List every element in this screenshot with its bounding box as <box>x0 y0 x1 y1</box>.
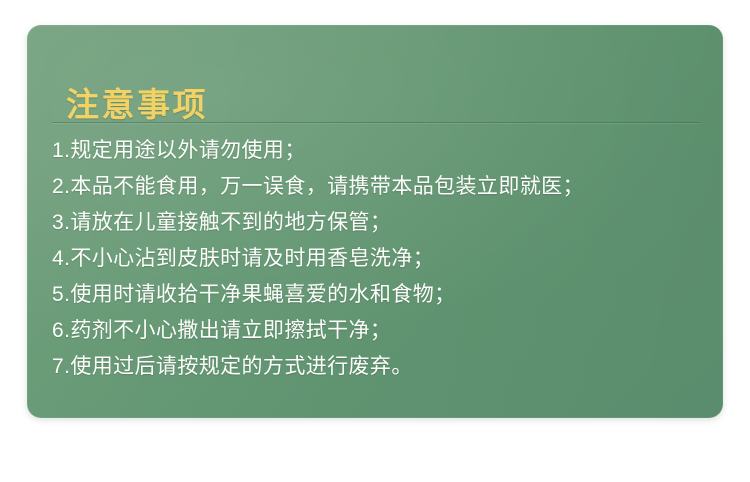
list-item-text: 本品不能食用，万一误食，请携带本品包装立即就医； <box>70 175 584 198</box>
list-item-text: 请放在儿童接触不到的地方保管； <box>70 211 391 234</box>
list-item-text: 规定用途以外请勿使用； <box>70 139 305 162</box>
list-item-text: 使用过后请按规定的方式进行废弃。 <box>70 355 412 378</box>
list-item-index: 1. <box>52 139 70 162</box>
list-item: 7.使用过后请按规定的方式进行废弃。 <box>52 349 705 385</box>
list-item: 3.请放在儿童接触不到的地方保管； <box>52 205 705 241</box>
list-item: 6.药剂不小心撒出请立即擦拭干净； <box>52 313 705 349</box>
list-item: 1.规定用途以外请勿使用； <box>52 133 705 169</box>
list-item-text: 不小心沾到皮肤时请及时用香皂洗净； <box>70 247 434 270</box>
list-item: 5.使用时请收拾干净果蝇喜爱的水和食物； <box>52 277 705 313</box>
list-item-index: 2. <box>52 175 70 198</box>
list-item-index: 7. <box>52 355 70 378</box>
page-canvas: 注意事项 1.规定用途以外请勿使用； 2.本品不能食用，万一误食，请携带本品包装… <box>0 0 750 482</box>
title-divider <box>52 122 700 123</box>
list-item-index: 3. <box>52 211 70 234</box>
notice-card: 注意事项 1.规定用途以外请勿使用； 2.本品不能食用，万一误食，请携带本品包装… <box>27 25 723 418</box>
list-item-text: 使用时请收拾干净果蝇喜爱的水和食物； <box>70 283 455 306</box>
list-item-text: 药剂不小心撒出请立即擦拭干净； <box>70 319 391 342</box>
list-item-index: 5. <box>52 283 70 306</box>
list-item: 2.本品不能食用，万一误食，请携带本品包装立即就医； <box>52 169 705 205</box>
page-title: 注意事项 <box>66 88 208 121</box>
notice-list: 1.规定用途以外请勿使用； 2.本品不能食用，万一误食，请携带本品包装立即就医；… <box>52 133 705 385</box>
list-item: 4.不小心沾到皮肤时请及时用香皂洗净； <box>52 241 705 277</box>
list-item-index: 6. <box>52 319 70 342</box>
list-item-index: 4. <box>52 247 70 270</box>
